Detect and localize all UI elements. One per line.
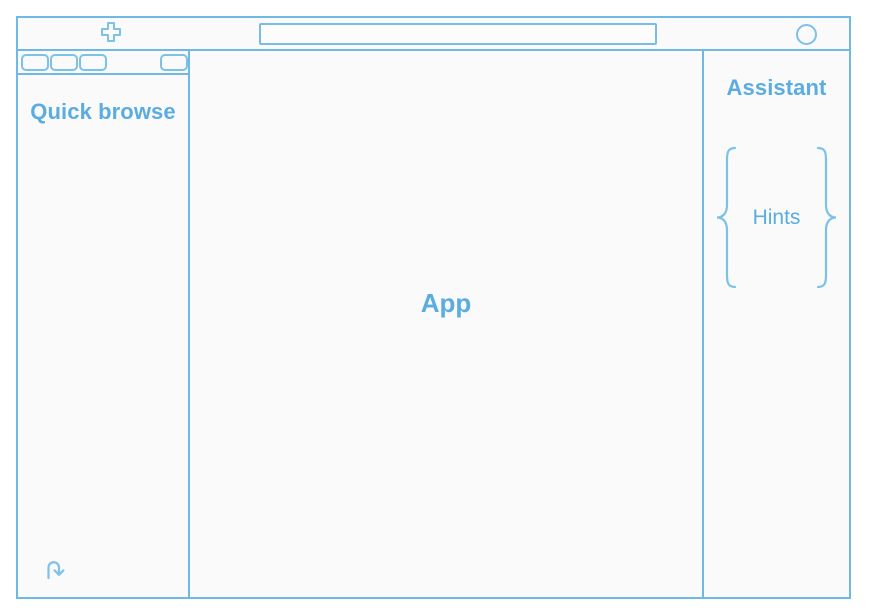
app-label: App [421, 288, 472, 319]
right-brace-icon [813, 145, 839, 290]
sidebar-toolbar-chip-2[interactable] [50, 54, 78, 71]
url-input[interactable] [261, 25, 655, 43]
window-body: Quick browse App Assistant [18, 51, 849, 597]
browser-window-frame: Quick browse App Assistant [16, 16, 851, 599]
hints-group: Hints [714, 145, 839, 290]
sidebar-panel: Quick browse [18, 51, 190, 597]
add-tab-button[interactable] [98, 21, 124, 47]
plus-icon [99, 20, 123, 49]
sidebar-toolbar-chip-1[interactable] [21, 54, 49, 71]
assistant-panel: Assistant Hints [704, 51, 849, 597]
sidebar-toolbar [18, 51, 188, 75]
left-brace-icon [714, 145, 740, 290]
app-content-area[interactable]: App [190, 51, 704, 597]
sidebar-footer [18, 554, 188, 589]
sidebar-toolbar-chip-4[interactable] [160, 54, 188, 71]
circle-avatar-icon[interactable] [796, 24, 817, 45]
quick-browse-title: Quick browse [18, 97, 188, 127]
quick-browse-section: Quick browse [18, 75, 188, 597]
url-bar[interactable] [259, 23, 657, 45]
top-bar [18, 18, 849, 51]
sidebar-toolbar-chip-3[interactable] [79, 54, 107, 71]
u-turn-arrow-icon[interactable] [40, 554, 70, 589]
assistant-title: Assistant [727, 75, 827, 101]
hints-label: Hints [740, 206, 813, 230]
